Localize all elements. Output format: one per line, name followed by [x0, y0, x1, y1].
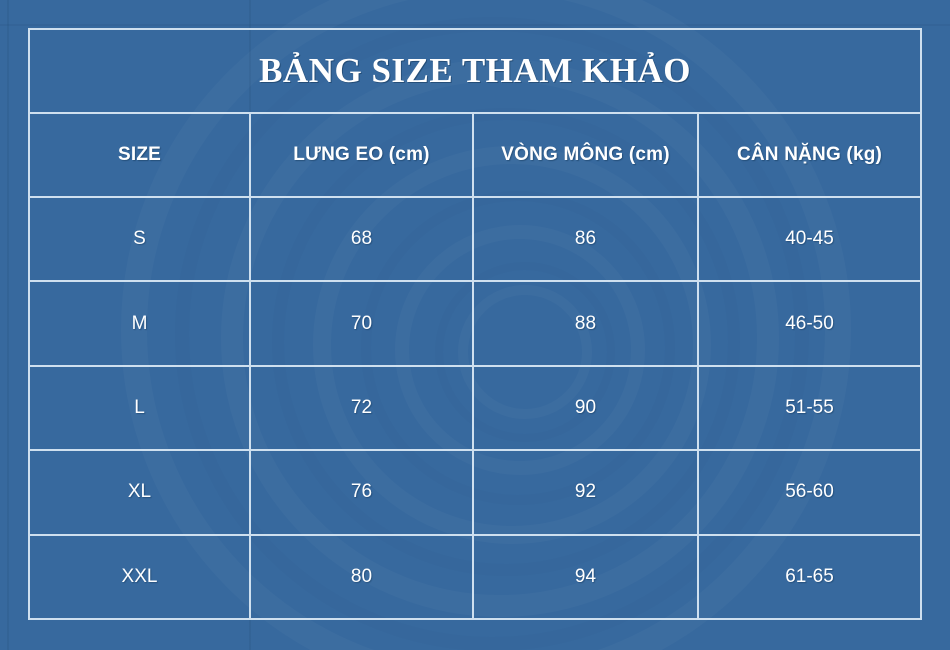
cell-size: M: [30, 282, 251, 364]
cell-weight: 61-65: [699, 536, 920, 618]
cell-waist: 72: [251, 367, 474, 449]
table-header-row: SIZE LƯNG EO (cm) VÒNG MÔNG (cm) CÂN NẶN…: [30, 114, 920, 198]
table-title-row: BẢNG SIZE THAM KHẢO: [30, 30, 920, 114]
cell-size: XL: [30, 451, 251, 533]
cell-size: S: [30, 198, 251, 280]
table-body: S 68 86 40-45 M 70 88 46-50 L 72 90 51-5…: [30, 198, 920, 618]
cell-hip: 88: [474, 282, 699, 364]
page-title: BẢNG SIZE THAM KHẢO: [259, 51, 691, 91]
size-chart-table: BẢNG SIZE THAM KHẢO SIZE LƯNG EO (cm) VÒ…: [28, 28, 922, 620]
table-row: L 72 90 51-55: [30, 367, 920, 451]
table-row: M 70 88 46-50: [30, 282, 920, 366]
cell-waist: 80: [251, 536, 474, 618]
cell-waist: 70: [251, 282, 474, 364]
table-row: XL 76 92 56-60: [30, 451, 920, 535]
cell-waist: 76: [251, 451, 474, 533]
cell-weight: 40-45: [699, 198, 920, 280]
cell-size: L: [30, 367, 251, 449]
column-header-hip: VÒNG MÔNG (cm): [474, 114, 699, 196]
cell-size: XXL: [30, 536, 251, 618]
column-header-weight: CÂN NẶNG (kg): [699, 114, 920, 196]
cell-hip: 90: [474, 367, 699, 449]
table-row: XXL 80 94 61-65: [30, 536, 920, 618]
cell-hip: 92: [474, 451, 699, 533]
cell-hip: 86: [474, 198, 699, 280]
cell-weight: 51-55: [699, 367, 920, 449]
cell-weight: 46-50: [699, 282, 920, 364]
cell-hip: 94: [474, 536, 699, 618]
column-header-waist: LƯNG EO (cm): [251, 114, 474, 196]
column-header-size: SIZE: [30, 114, 251, 196]
cell-waist: 68: [251, 198, 474, 280]
table-row: S 68 86 40-45: [30, 198, 920, 282]
cell-weight: 56-60: [699, 451, 920, 533]
